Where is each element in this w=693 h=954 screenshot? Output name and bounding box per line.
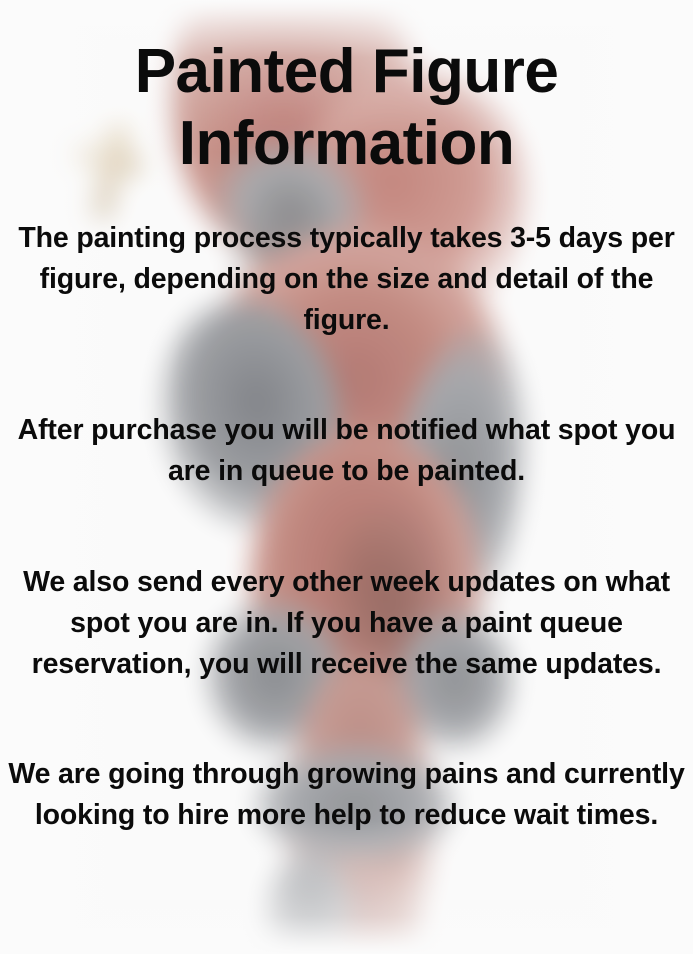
paragraph-growing-pains: We are going through growing pains and c… [0, 754, 693, 836]
page-title: Painted Figure Information [0, 0, 693, 180]
paragraph-painting-process: The painting process typically takes 3-5… [0, 218, 693, 341]
painted-figure-information-poster: Painted Figure Information The painting … [0, 0, 693, 954]
paragraph-queue-notification: After purchase you will be notified what… [0, 410, 693, 492]
paragraph-biweekly-updates: We also send every other week updates on… [0, 562, 693, 685]
poster-text-overlay: Painted Figure Information The painting … [0, 0, 693, 954]
